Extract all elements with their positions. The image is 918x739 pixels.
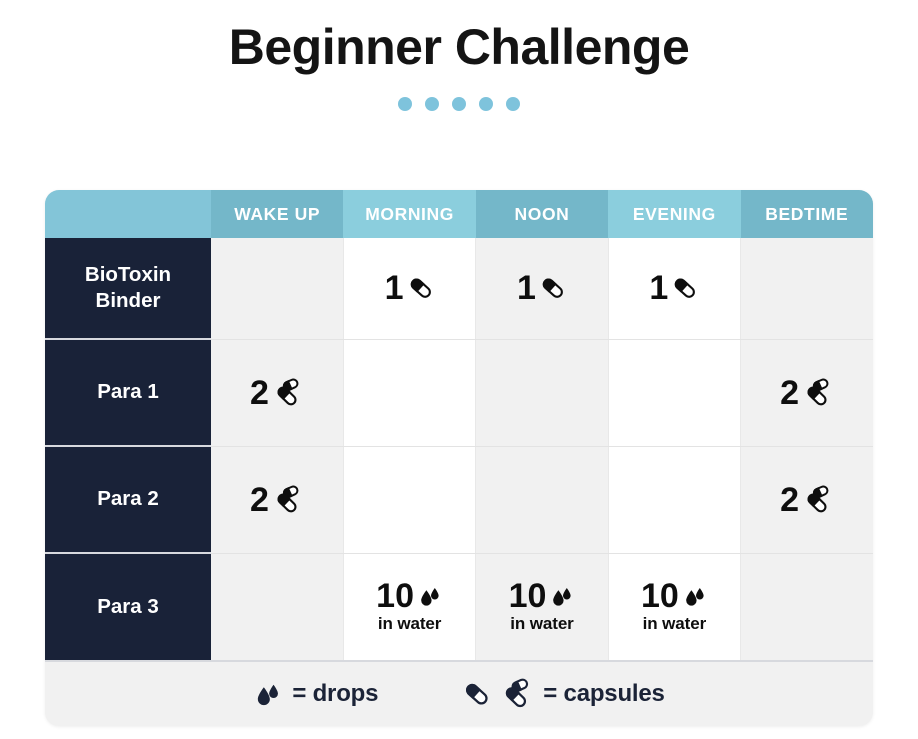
drops-icon (682, 583, 708, 609)
dose-amount: 2 (780, 376, 799, 410)
cell-para3-bedtime (741, 553, 873, 660)
dot-1 (398, 97, 412, 111)
table-row: BioToxin Binder 1 (45, 238, 873, 339)
dose-value: 2 (780, 483, 834, 517)
cell-para3-morning: 10 in water (343, 553, 475, 660)
cell-para1-noon (476, 339, 608, 446)
cell-para1-evening (608, 339, 740, 446)
capsule-pair-icon (272, 378, 304, 408)
legend-item-capsules: = capsules (462, 678, 664, 710)
schedule-table-body: BioToxin Binder 1 (45, 238, 873, 660)
capsule-pair-icon (500, 678, 534, 710)
dose-note: in water (378, 614, 441, 634)
column-header-morning: MORNING (343, 190, 475, 238)
capsule-pair-icon (802, 485, 834, 515)
legend-label-capsules: = capsules (543, 680, 664, 708)
dose-amount: 2 (250, 376, 269, 410)
cell-para1-bedtime: 2 (741, 339, 873, 446)
cell-para1-morning (343, 339, 475, 446)
dose-amount: 1 (649, 271, 668, 305)
column-header-bedtime: BEDTIME (741, 190, 873, 238)
cell-para2-evening (608, 446, 740, 553)
dose-value: 2 (250, 483, 304, 517)
dose-value: 10 (641, 579, 708, 613)
row-label-para-3: Para 3 (45, 553, 211, 660)
schedule-table-header: WAKE UP MORNING NOON EVENING BEDTIME (45, 190, 873, 238)
dot-5 (506, 97, 520, 111)
table-row: Para 3 10 (45, 553, 873, 660)
dot-indicator (0, 97, 918, 111)
dot-3 (452, 97, 466, 111)
dose-value: 10 (509, 579, 576, 613)
cell-para2-morning (343, 446, 475, 553)
dose-amount: 1 (517, 271, 536, 305)
schedule-table: WAKE UP MORNING NOON EVENING BEDTIME Bio… (45, 190, 873, 660)
cell-para3-noon: 10 in water (476, 553, 608, 660)
dose-amount: 10 (509, 579, 547, 613)
column-header-wake-up: WAKE UP (211, 190, 343, 238)
dose-value: 2 (780, 376, 834, 410)
legend-item-drops: = drops (253, 679, 378, 709)
dose-note: in water (643, 614, 706, 634)
capsule-pair-icon (802, 378, 834, 408)
cell-para3-evening: 10 in water (608, 553, 740, 660)
dose-amount: 10 (641, 579, 679, 613)
cell-biotoxin-evening: 1 (608, 238, 740, 339)
legend-label-drops: = drops (292, 680, 378, 708)
row-label-para-2: Para 2 (45, 446, 211, 553)
schedule-card: WAKE UP MORNING NOON EVENING BEDTIME Bio… (45, 190, 873, 726)
dot-2 (425, 97, 439, 111)
cell-para2-noon (476, 446, 608, 553)
capsule-icon (671, 274, 699, 302)
cell-biotoxin-noon: 1 (476, 238, 608, 339)
row-label-line2: Binder (96, 289, 161, 312)
legend-bar: = drops (45, 660, 873, 726)
column-header-noon: NOON (476, 190, 608, 238)
cell-biotoxin-bedtime (741, 238, 873, 339)
dot-4 (479, 97, 493, 111)
cell-para2-bedtime: 2 (741, 446, 873, 553)
dose-block: 10 in water (344, 579, 475, 634)
cell-biotoxin-morning: 1 (343, 238, 475, 339)
dose-value: 10 (376, 579, 443, 613)
page-title: Beginner Challenge (0, 0, 918, 76)
dose-block: 10 in water (609, 579, 740, 634)
row-label-para-1: Para 1 (45, 339, 211, 446)
row-label-biotoxin-binder: BioToxin Binder (45, 238, 211, 339)
header-corner-blank (45, 190, 211, 238)
column-header-evening: EVENING (608, 190, 740, 238)
drops-icon (549, 583, 575, 609)
capsule-icon (462, 679, 492, 709)
cell-para1-wake-up: 2 (211, 339, 343, 446)
cell-para2-wake-up: 2 (211, 446, 343, 553)
legend-capsule-icons (462, 678, 534, 710)
table-row: Para 2 2 (45, 446, 873, 553)
dose-amount: 10 (376, 579, 414, 613)
dose-value: 1 (385, 271, 435, 305)
capsule-icon (407, 274, 435, 302)
table-row: Para 1 2 (45, 339, 873, 446)
challenge-schedule-page: Beginner Challenge WAKE UP MORNING NOON … (0, 0, 918, 739)
row-label-line1: BioToxin (85, 263, 171, 286)
dose-value: 2 (250, 376, 304, 410)
capsule-icon (539, 274, 567, 302)
dose-value: 1 (649, 271, 699, 305)
drops-icon (417, 583, 443, 609)
dose-value: 1 (517, 271, 567, 305)
dose-amount: 2 (780, 483, 799, 517)
dose-block: 10 in water (476, 579, 607, 634)
capsule-pair-icon (272, 485, 304, 515)
dose-amount: 1 (385, 271, 404, 305)
dose-amount: 2 (250, 483, 269, 517)
cell-para3-wake-up (211, 553, 343, 660)
dose-note: in water (510, 614, 573, 634)
drops-icon (253, 679, 283, 709)
cell-biotoxin-wake-up (211, 238, 343, 339)
